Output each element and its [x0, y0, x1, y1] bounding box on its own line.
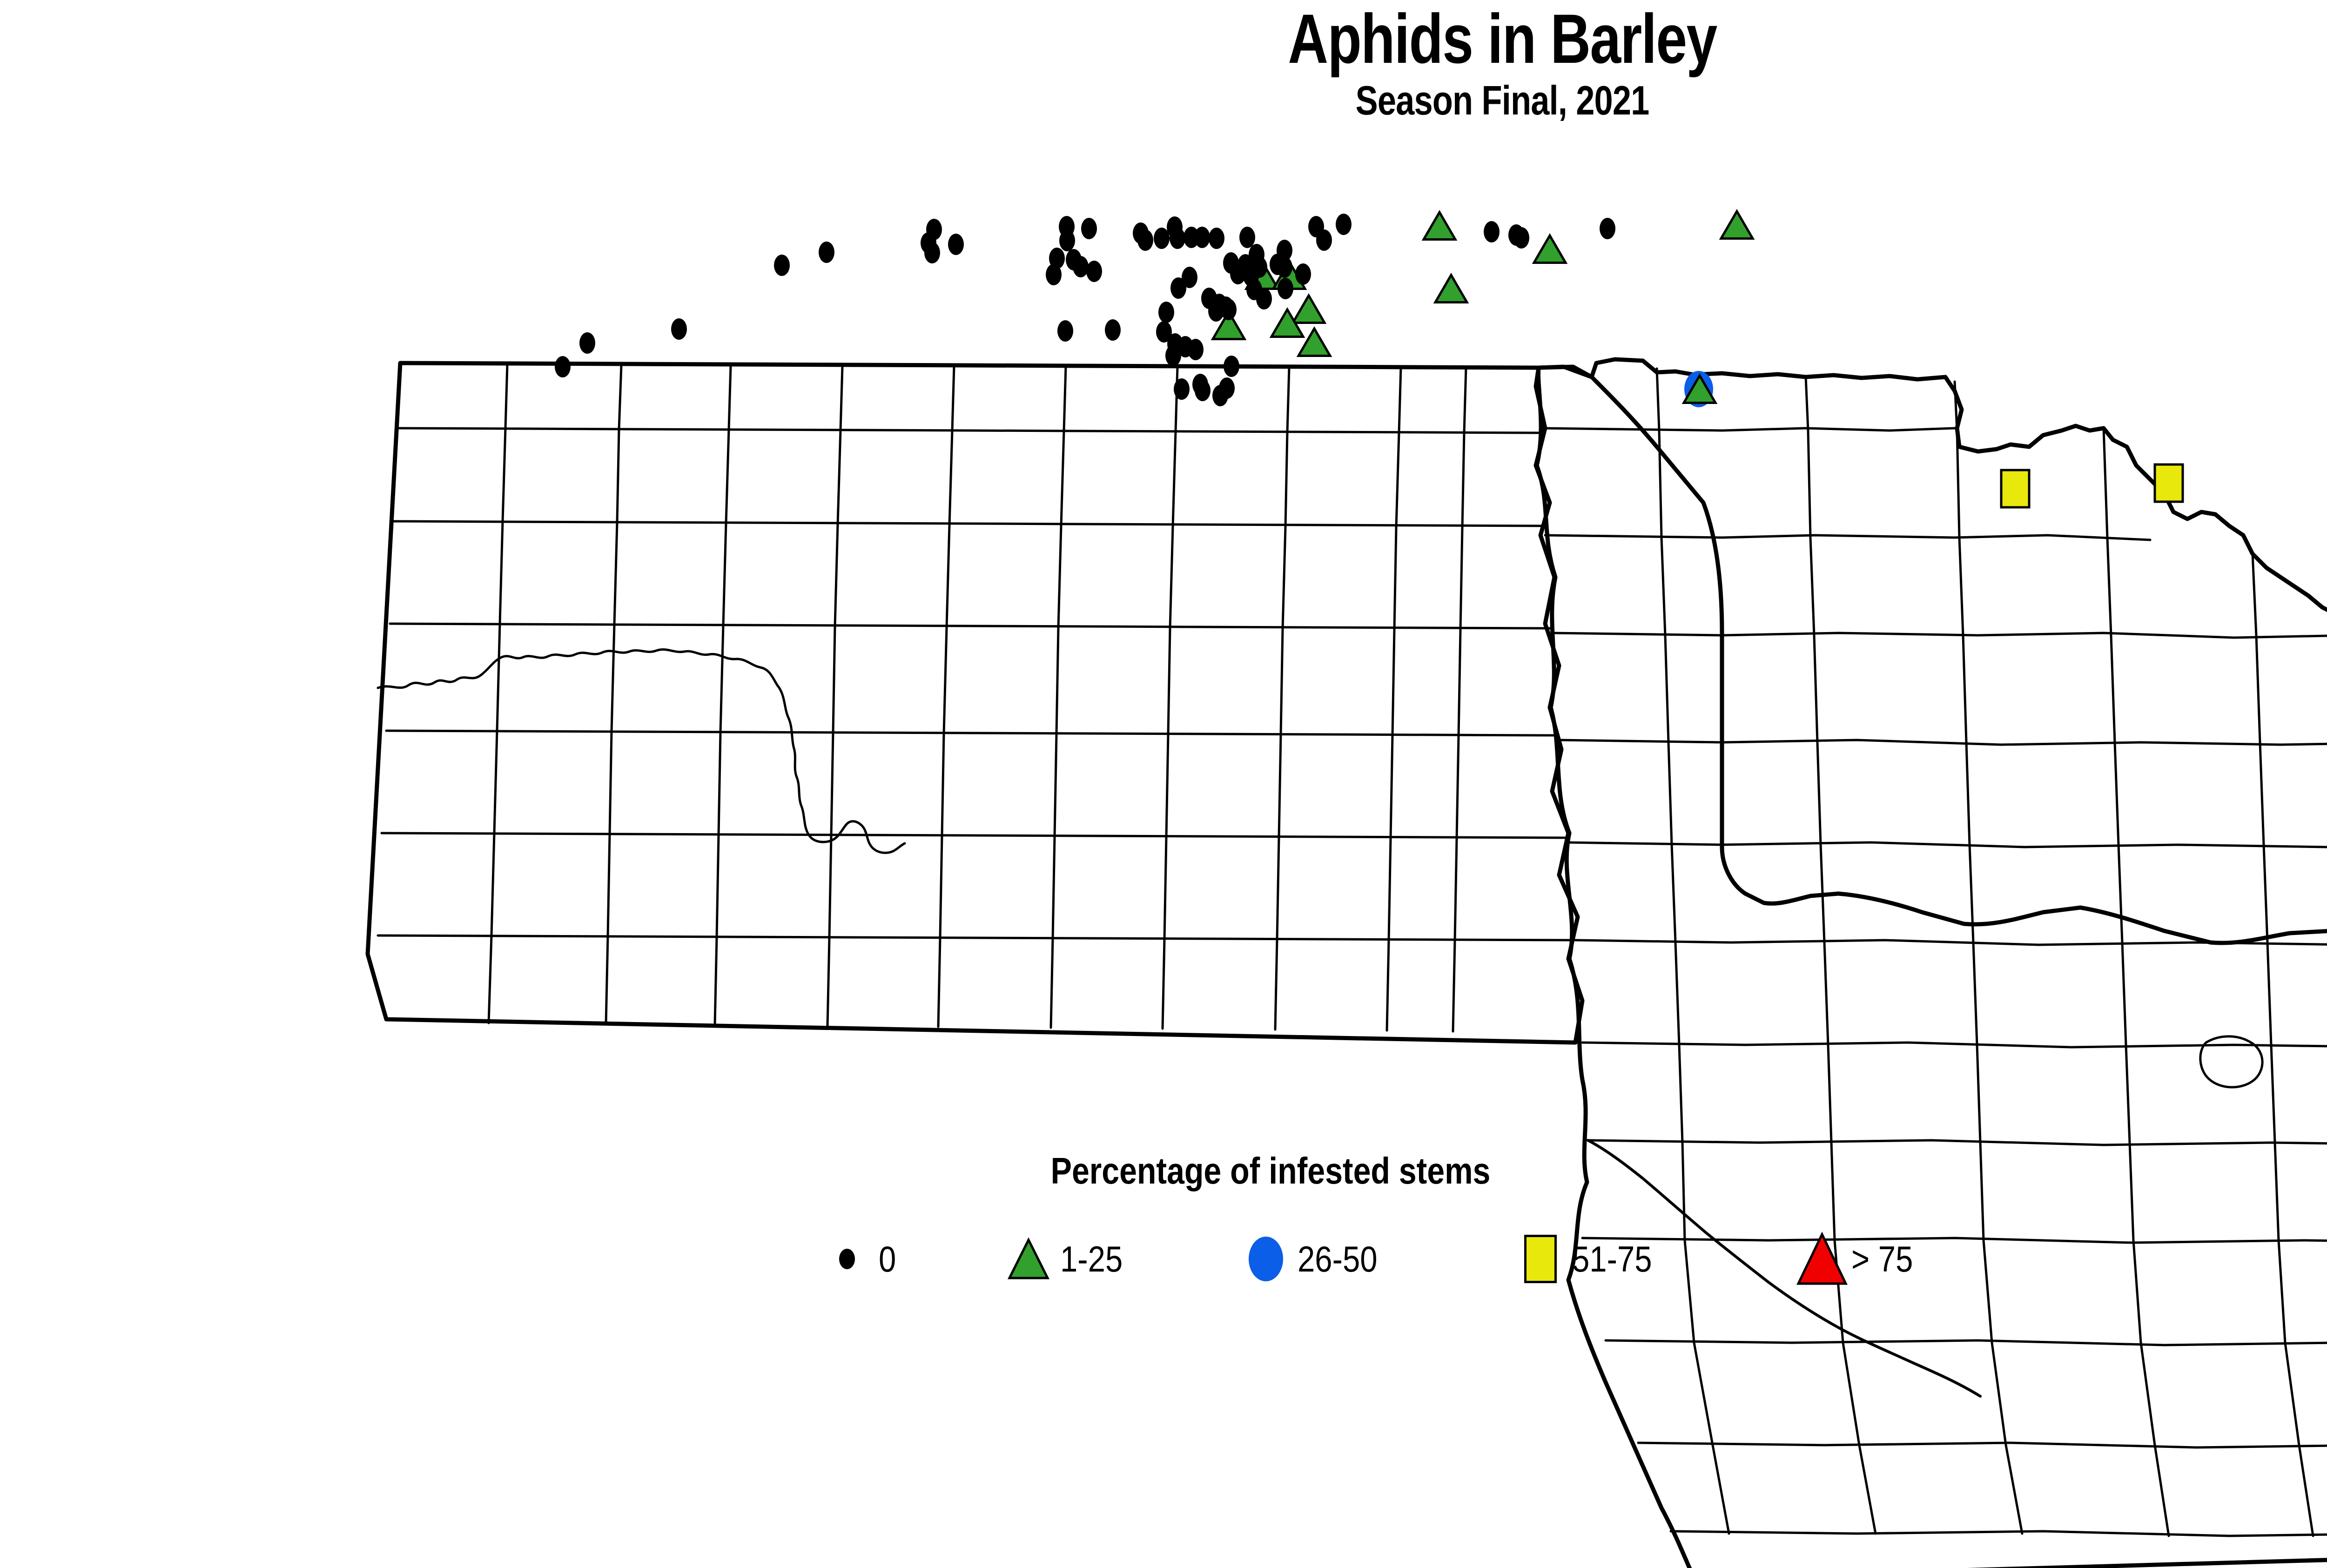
minnesota-outline	[1537, 367, 2327, 1568]
green-triangle-icon	[1001, 1233, 1056, 1285]
legend-label-severe: > 75	[1851, 1238, 1913, 1280]
black-dot-icon	[819, 1233, 875, 1285]
data-point-0[interactable]	[1336, 214, 1352, 235]
county-map-svg[interactable]	[0, 168, 2327, 1568]
legend-item-medium[interactable]: 26-50	[1238, 1219, 1391, 1299]
data-point-0[interactable]	[1209, 228, 1224, 249]
data-point-0[interactable]	[1195, 380, 1211, 401]
legend-items-row: 0 1-25 26-50	[340, 1219, 2015, 1299]
data-point-0[interactable]	[555, 356, 571, 377]
data-point-0[interactable]	[1600, 218, 1615, 239]
legend-label-medium: 26-50	[1298, 1238, 1378, 1280]
data-point-0[interactable]	[1278, 278, 1293, 299]
data-point-0[interactable]	[1484, 221, 1500, 242]
data-point-0[interactable]	[1170, 228, 1185, 249]
data-point-0[interactable]	[1295, 263, 1311, 285]
data-point-0[interactable]	[579, 332, 595, 354]
title-block: Aphids in Barley Season Final, 2021	[0, 0, 2327, 121]
data-point-0[interactable]	[1158, 302, 1174, 323]
data-point-0[interactable]	[1059, 230, 1075, 251]
legend-item-severe[interactable]: > 75	[1792, 1219, 1923, 1299]
lake-sakakawea	[378, 649, 777, 688]
data-point-0[interactable]	[1239, 227, 1255, 248]
data-point-1-25[interactable]	[1721, 211, 1753, 238]
data-point-1-25[interactable]	[1298, 329, 1330, 356]
legend-label-low: 1-25	[1060, 1238, 1123, 1280]
data-point-0[interactable]	[1513, 227, 1529, 249]
data-point-0[interactable]	[1224, 356, 1239, 377]
page-subtitle: Season Final, 2021	[270, 74, 2327, 121]
data-point-0[interactable]	[1174, 378, 1190, 400]
data-point-0[interactable]	[774, 255, 790, 276]
map-canvas[interactable]	[0, 168, 2327, 1568]
data-point-0[interactable]	[1081, 218, 1097, 239]
yellow-square-icon	[1513, 1233, 1568, 1285]
data-point-0[interactable]	[1208, 300, 1224, 322]
data-point-0[interactable]	[1165, 345, 1181, 366]
data-point-0[interactable]	[1154, 228, 1170, 249]
data-point-1-25[interactable]	[1534, 236, 1566, 262]
mn-county-grid	[1540, 369, 2327, 1536]
legend-label-high: 51-75	[1572, 1238, 1652, 1280]
page-title: Aphids in Barley	[301, 0, 2327, 74]
state-and-county-outlines	[368, 359, 2327, 1568]
data-point-0[interactable]	[1073, 256, 1089, 277]
data-point-0[interactable]	[1316, 229, 1332, 251]
data-point-0[interactable]	[1170, 277, 1186, 299]
data-point-0[interactable]	[924, 242, 940, 263]
blue-circle-icon	[1238, 1233, 1294, 1285]
data-point-0[interactable]	[1256, 288, 1272, 310]
data-point-0[interactable]	[1137, 229, 1153, 251]
nd-county-grid	[378, 365, 1573, 1031]
legend-item-low[interactable]: 1-25	[1001, 1219, 1133, 1299]
data-point-0[interactable]	[819, 242, 834, 263]
legend-heading: Percentage of infested stems	[658, 1150, 1884, 1192]
data-point-0[interactable]	[1046, 264, 1062, 285]
data-point-1-25[interactable]	[1293, 296, 1325, 323]
legend-item-high[interactable]: 51-75	[1513, 1219, 1665, 1299]
data-point-0[interactable]	[671, 318, 687, 340]
data-point-0[interactable]	[1105, 319, 1121, 341]
data-point-0[interactable]	[1194, 227, 1210, 248]
legend-item-zero[interactable]: 0	[819, 1219, 899, 1299]
mn-canada-border	[1539, 359, 2327, 733]
data-point-51-75[interactable]	[2001, 470, 2029, 507]
red-triangle-icon	[1792, 1233, 1848, 1285]
data-point-51-75[interactable]	[2155, 464, 2183, 502]
missouri-river	[777, 685, 905, 853]
data-point-0[interactable]	[948, 234, 964, 255]
map-figure: Aphids in Barley Season Final, 2021	[0, 0, 2327, 1568]
data-point-1-25[interactable]	[1435, 275, 1467, 302]
data-point-0[interactable]	[1188, 339, 1204, 360]
data-point-0[interactable]	[1219, 377, 1235, 399]
legend-label-zero: 0	[879, 1238, 896, 1280]
legend: Percentage of infested stems 0 1-25	[549, 1150, 1992, 1303]
data-point-0[interactable]	[1277, 256, 1292, 278]
data-point-1-25[interactable]	[1424, 212, 1455, 239]
data-point-0[interactable]	[1086, 261, 1102, 282]
data-point-0[interactable]	[1057, 320, 1073, 342]
